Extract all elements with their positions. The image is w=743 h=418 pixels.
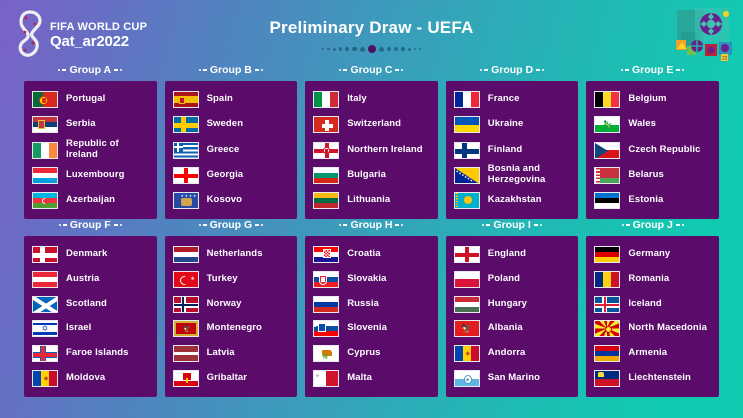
group-f: Group FDenmarkAustriaScotland✡IsraelFaro… <box>20 219 161 397</box>
team-name: Kazakhstan <box>488 195 542 206</box>
team-row[interactable]: ◈Moldova <box>32 366 149 391</box>
label-decoration-right <box>395 224 403 226</box>
flag-bulgaria-icon <box>313 167 339 184</box>
label-decoration-left <box>339 69 347 71</box>
group-label-text: Group J <box>633 219 673 231</box>
team-name: Wales <box>628 119 656 130</box>
group-label-text: Group B <box>210 64 252 76</box>
group-card: ItalySwitzerlandNorthern IrelandBulgaria… <box>305 81 438 219</box>
flag-liechtenstein-icon <box>594 370 620 387</box>
label-decoration-left <box>339 224 347 226</box>
label-decoration-right <box>536 69 544 71</box>
label-decoration-right <box>676 69 684 71</box>
team-row[interactable]: Lithuania <box>313 188 430 213</box>
team-row[interactable]: Portugal <box>32 87 149 112</box>
team-name: Spain <box>207 94 233 105</box>
team-row[interactable]: Croatia <box>313 242 430 267</box>
group-i: Group IEnglandPolandHungary🦅Albania◈Ando… <box>442 219 583 397</box>
group-label: Group E <box>621 64 684 76</box>
team-row[interactable]: England <box>454 242 571 267</box>
team-row[interactable]: 🦎Wales <box>594 112 711 137</box>
team-row[interactable]: Luxembourg <box>32 163 149 188</box>
flag-russia-icon <box>313 296 339 313</box>
team-name: Moldova <box>66 373 105 384</box>
group-label-text: Group A <box>69 64 111 76</box>
team-row[interactable]: ♚San Marino <box>454 366 571 391</box>
team-name: Georgia <box>207 170 244 181</box>
flag-andorra-icon: ◈ <box>454 345 480 362</box>
group-label-text: Group H <box>350 219 392 231</box>
flag-kazakhstan-icon <box>454 192 480 209</box>
label-decoration-right <box>114 69 122 71</box>
flag-north-macedonia-icon <box>594 320 620 337</box>
team-row[interactable]: Poland <box>454 267 571 292</box>
group-card: SpainSwedenGreece✛✛Georgia★★★★★★Kosovo <box>165 81 298 219</box>
team-name: Denmark <box>66 249 107 260</box>
flag-ukraine-icon <box>454 116 480 133</box>
team-name: Gribaltar <box>207 373 248 384</box>
label-decoration-right <box>114 224 122 226</box>
flag-austria-icon <box>32 271 58 288</box>
team-name: Netherlands <box>207 249 263 260</box>
team-row[interactable]: Hungary <box>454 292 571 317</box>
team-name: Slovakia <box>347 274 386 285</box>
page-header: FIFA WORLD CUP Qat_ar2022 Preliminary Dr… <box>0 0 743 66</box>
label-decoration-left <box>199 69 207 71</box>
team-row[interactable]: Scotland <box>32 292 149 317</box>
flag-iceland-icon <box>594 296 620 313</box>
team-row[interactable]: Finland <box>454 137 571 162</box>
team-name: North Macedonia <box>628 323 707 334</box>
label-decoration-right <box>255 69 263 71</box>
team-name: Slovenia <box>347 323 387 334</box>
label-decoration-left <box>59 224 67 226</box>
group-label-text: Group D <box>491 64 533 76</box>
flag-slovakia-icon <box>313 271 339 288</box>
team-row[interactable]: Belgium <box>594 87 711 112</box>
flag-latvia-icon <box>173 345 199 362</box>
team-row[interactable]: Azerbaijan <box>32 188 149 213</box>
label-decoration-left <box>622 224 630 226</box>
flag-germany-icon <box>594 246 620 263</box>
flag-ireland-icon <box>32 142 58 159</box>
label-decoration-left <box>199 224 207 226</box>
group-card: DenmarkAustriaScotland✡IsraelFaroe Islan… <box>24 236 157 397</box>
team-row[interactable]: ✠Malta <box>313 366 430 391</box>
flag-cyprus-icon: 🌿 <box>313 345 339 362</box>
flag-albania-icon: 🦅 <box>454 320 480 337</box>
team-row[interactable]: ✡Israel <box>32 316 149 341</box>
team-row[interactable]: 🌿Cyprus <box>313 341 430 366</box>
team-row[interactable]: North Macedonia <box>594 316 711 341</box>
team-name: Republic of Ireland <box>66 139 149 161</box>
team-row[interactable]: Kazakhstan <box>454 188 571 213</box>
team-name: Serbia <box>66 119 96 130</box>
team-name: Iceland <box>628 299 661 310</box>
team-name: England <box>488 249 526 260</box>
team-name: Portugal <box>66 94 105 105</box>
flag-lithuania-icon <box>313 192 339 209</box>
flag-san-marino-icon: ♚ <box>454 370 480 387</box>
team-row[interactable]: Latvia <box>173 341 290 366</box>
group-g: Group GNetherlands★TurkeyNorway🦅Monteneg… <box>161 219 302 397</box>
team-row[interactable]: Bulgaria <box>313 163 430 188</box>
label-decoration-right <box>395 69 403 71</box>
team-name: Russia <box>347 299 379 310</box>
flag-denmark-icon <box>32 246 58 263</box>
page-title: Preliminary Draw - UEFA <box>0 18 743 38</box>
group-label-text: Group C <box>350 64 392 76</box>
group-label-text: Group G <box>210 219 253 231</box>
flag-norway-icon <box>173 296 199 313</box>
group-label-text: Group E <box>632 64 673 76</box>
group-card: EnglandPolandHungary🦅Albania◈Andorra♚San… <box>446 236 579 397</box>
team-name: Sweden <box>207 119 244 130</box>
team-name: Israel <box>66 323 91 334</box>
group-label-text: Group F <box>70 219 111 231</box>
flag-portugal-icon <box>32 91 58 108</box>
flag-greece-icon <box>173 142 199 159</box>
group-a: Group APortugalSerbiaRepublic of Ireland… <box>20 64 161 219</box>
flag-croatia-icon <box>313 246 339 263</box>
group-label: Group J <box>622 219 684 231</box>
team-name: Greece <box>207 145 240 156</box>
flag-spain-icon <box>173 91 199 108</box>
team-row[interactable]: Iceland <box>594 292 711 317</box>
team-name: Belarus <box>628 170 664 181</box>
flag-italy-icon <box>313 91 339 108</box>
label-decoration-left <box>621 69 629 71</box>
flag-wales-icon: 🦎 <box>594 116 620 133</box>
team-name: Turkey <box>207 274 238 285</box>
flag-netherlands-icon <box>173 246 199 263</box>
group-card: FranceUkraineFinland★★★★★★Bosnia and Her… <box>446 81 579 219</box>
group-card: PortugalSerbiaRepublic of IrelandLuxembo… <box>24 81 157 219</box>
team-name: Montenegro <box>207 323 262 334</box>
flag-sweden-icon <box>173 116 199 133</box>
team-name: Andorra <box>488 348 526 359</box>
flag-finland-icon <box>454 142 480 159</box>
flag-switzerland-icon <box>313 116 339 133</box>
group-card: GermanyRomaniaIcelandNorth MacedoniaArme… <box>586 236 719 397</box>
team-row[interactable]: Denmark <box>32 242 149 267</box>
team-row[interactable]: ★★★★★★Kosovo <box>173 188 290 213</box>
team-name: San Marino <box>488 373 540 384</box>
team-name: Germany <box>628 249 670 260</box>
group-j: Group JGermanyRomaniaIcelandNorth Macedo… <box>582 219 723 397</box>
team-name: Romania <box>628 274 669 285</box>
team-row[interactable]: Northern Ireland <box>313 137 430 162</box>
team-row[interactable]: ★★★★★★Bosnia and Herzegovina <box>454 163 571 188</box>
group-label: Group F <box>59 219 122 231</box>
group-e: Group EBelgium🦎WalesCzech RepublicBelaru… <box>582 64 723 219</box>
team-row[interactable]: ✛✛Georgia <box>173 163 290 188</box>
flag-poland-icon <box>454 271 480 288</box>
team-row[interactable]: Spain <box>173 87 290 112</box>
flag-belarus-icon <box>594 167 620 184</box>
team-name: Faroe Islands <box>66 348 129 359</box>
group-label: Group A <box>58 64 122 76</box>
team-row[interactable]: Greece <box>173 137 290 162</box>
team-name: Albania <box>488 323 523 334</box>
team-name: Switzerland <box>347 119 401 130</box>
team-row[interactable]: Norway <box>173 292 290 317</box>
team-row[interactable]: 🦅Montenegro <box>173 316 290 341</box>
flag-england-icon <box>454 246 480 263</box>
group-label: Group G <box>199 219 264 231</box>
team-row[interactable]: Sweden <box>173 112 290 137</box>
group-grid: Group APortugalSerbiaRepublic of Ireland… <box>0 64 743 416</box>
team-name: France <box>488 94 520 105</box>
team-name: Norway <box>207 299 242 310</box>
group-c: Group CItalySwitzerlandNorthern IrelandB… <box>301 64 442 219</box>
label-decoration-right <box>676 224 684 226</box>
team-row[interactable]: Romania <box>594 267 711 292</box>
flag-turkey-icon: ★ <box>173 271 199 288</box>
group-label: Group H <box>339 219 403 231</box>
team-row[interactable]: France <box>454 87 571 112</box>
team-name: Poland <box>488 274 520 285</box>
group-label-text: Group I <box>493 219 530 231</box>
team-name: Lithuania <box>347 195 390 206</box>
team-row[interactable]: Serbia <box>32 112 149 137</box>
flag-czech-republic-icon <box>594 142 620 159</box>
team-name: Azerbaijan <box>66 195 115 206</box>
team-name: Bulgaria <box>347 170 386 181</box>
team-name: Finland <box>488 145 522 156</box>
team-row[interactable]: Belarus <box>594 163 711 188</box>
team-name: Northern Ireland <box>347 145 423 156</box>
group-label: Group C <box>339 64 403 76</box>
flag-scotland-icon <box>32 296 58 313</box>
flag-gibraltar-icon <box>173 370 199 387</box>
team-name: Cyprus <box>347 348 380 359</box>
group-h: Group HCroatiaSlovakiaRussia▲Slovenia🌿Cy… <box>301 219 442 397</box>
flag-armenia-icon <box>594 345 620 362</box>
dot-separator-row <box>0 45 743 53</box>
qatar-2022-pattern-collage-icon: 22 <box>675 2 737 64</box>
group-d: Group DFranceUkraineFinland★★★★★★Bosnia … <box>442 64 583 219</box>
flag-belgium-icon <box>594 91 620 108</box>
team-name: Armenia <box>628 348 667 359</box>
team-row[interactable]: ◈Andorra <box>454 341 571 366</box>
team-row[interactable]: Czech Republic <box>594 137 711 162</box>
team-row[interactable]: ★Turkey <box>173 267 290 292</box>
team-row[interactable]: 🦅Albania <box>454 316 571 341</box>
team-name: Luxembourg <box>66 170 125 181</box>
team-row[interactable]: Germany <box>594 242 711 267</box>
group-label: Group D <box>480 64 544 76</box>
team-row[interactable]: Netherlands <box>173 242 290 267</box>
team-row[interactable]: Faroe Islands <box>32 341 149 366</box>
flag-serbia-icon <box>32 116 58 133</box>
team-name: Malta <box>347 373 372 384</box>
flag-estonia-icon <box>594 192 620 209</box>
flag-luxembourg-icon <box>32 167 58 184</box>
team-name: Austria <box>66 274 99 285</box>
team-row[interactable]: Ukraine <box>454 112 571 137</box>
label-decoration-left <box>482 224 490 226</box>
group-b: Group BSpainSwedenGreece✛✛Georgia★★★★★★K… <box>161 64 302 219</box>
team-name: Hungary <box>488 299 527 310</box>
label-decoration-left <box>58 69 66 71</box>
team-row[interactable]: Slovakia <box>313 267 430 292</box>
flag-hungary-icon <box>454 296 480 313</box>
flag-georgia-icon: ✛✛ <box>173 167 199 184</box>
flag-northern-ireland-icon <box>313 142 339 159</box>
group-card: Netherlands★TurkeyNorway🦅MontenegroLatvi… <box>165 236 298 397</box>
group-label: Group B <box>199 64 263 76</box>
team-name: Belgium <box>628 94 666 105</box>
group-card: CroatiaSlovakiaRussia▲Slovenia🌿Cyprus✠Ma… <box>305 236 438 397</box>
flag-bosnia-and-herzegovina-icon: ★★★★★★ <box>454 167 480 184</box>
team-row[interactable]: Italy <box>313 87 430 112</box>
flag-france-icon <box>454 91 480 108</box>
label-decoration-left <box>480 69 488 71</box>
flag-moldova-icon: ◈ <box>32 370 58 387</box>
team-row[interactable]: Switzerland <box>313 112 430 137</box>
team-name: Croatia <box>347 249 380 260</box>
team-row[interactable]: ▲Slovenia <box>313 316 430 341</box>
team-row[interactable]: Austria <box>32 267 149 292</box>
flag-slovenia-icon: ▲ <box>313 320 339 337</box>
team-name: Latvia <box>207 348 235 359</box>
team-row[interactable]: Republic of Ireland <box>32 137 149 162</box>
flag-azerbaijan-icon <box>32 192 58 209</box>
team-name: Estonia <box>628 195 663 206</box>
flag-israel-icon: ✡ <box>32 320 58 337</box>
svg-text:22: 22 <box>722 56 728 62</box>
flag-montenegro-icon: 🦅 <box>173 320 199 337</box>
team-name: Ukraine <box>488 119 524 130</box>
team-row[interactable]: Estonia <box>594 188 711 213</box>
flag-kosovo-icon: ★★★★★★ <box>173 192 199 209</box>
label-decoration-right <box>255 224 263 226</box>
group-label: Group I <box>482 219 541 231</box>
label-decoration-right <box>534 224 542 226</box>
team-name: Kosovo <box>207 195 242 206</box>
team-name: Italy <box>347 94 367 105</box>
team-name: Czech Republic <box>628 145 700 156</box>
team-name: Scotland <box>66 299 107 310</box>
team-row[interactable]: Gribaltar <box>173 366 290 391</box>
team-row[interactable]: Armenia <box>594 341 711 366</box>
team-name: Liechtenstein <box>628 373 691 384</box>
flag-romania-icon <box>594 271 620 288</box>
group-card: Belgium🦎WalesCzech RepublicBelarusEstoni… <box>586 81 719 219</box>
flag-faroe-islands-icon <box>32 345 58 362</box>
team-name: Bosnia and Herzegovina <box>488 164 571 186</box>
team-row[interactable]: Liechtenstein <box>594 366 711 391</box>
flag-malta-icon: ✠ <box>313 370 339 387</box>
team-row[interactable]: Russia <box>313 292 430 317</box>
